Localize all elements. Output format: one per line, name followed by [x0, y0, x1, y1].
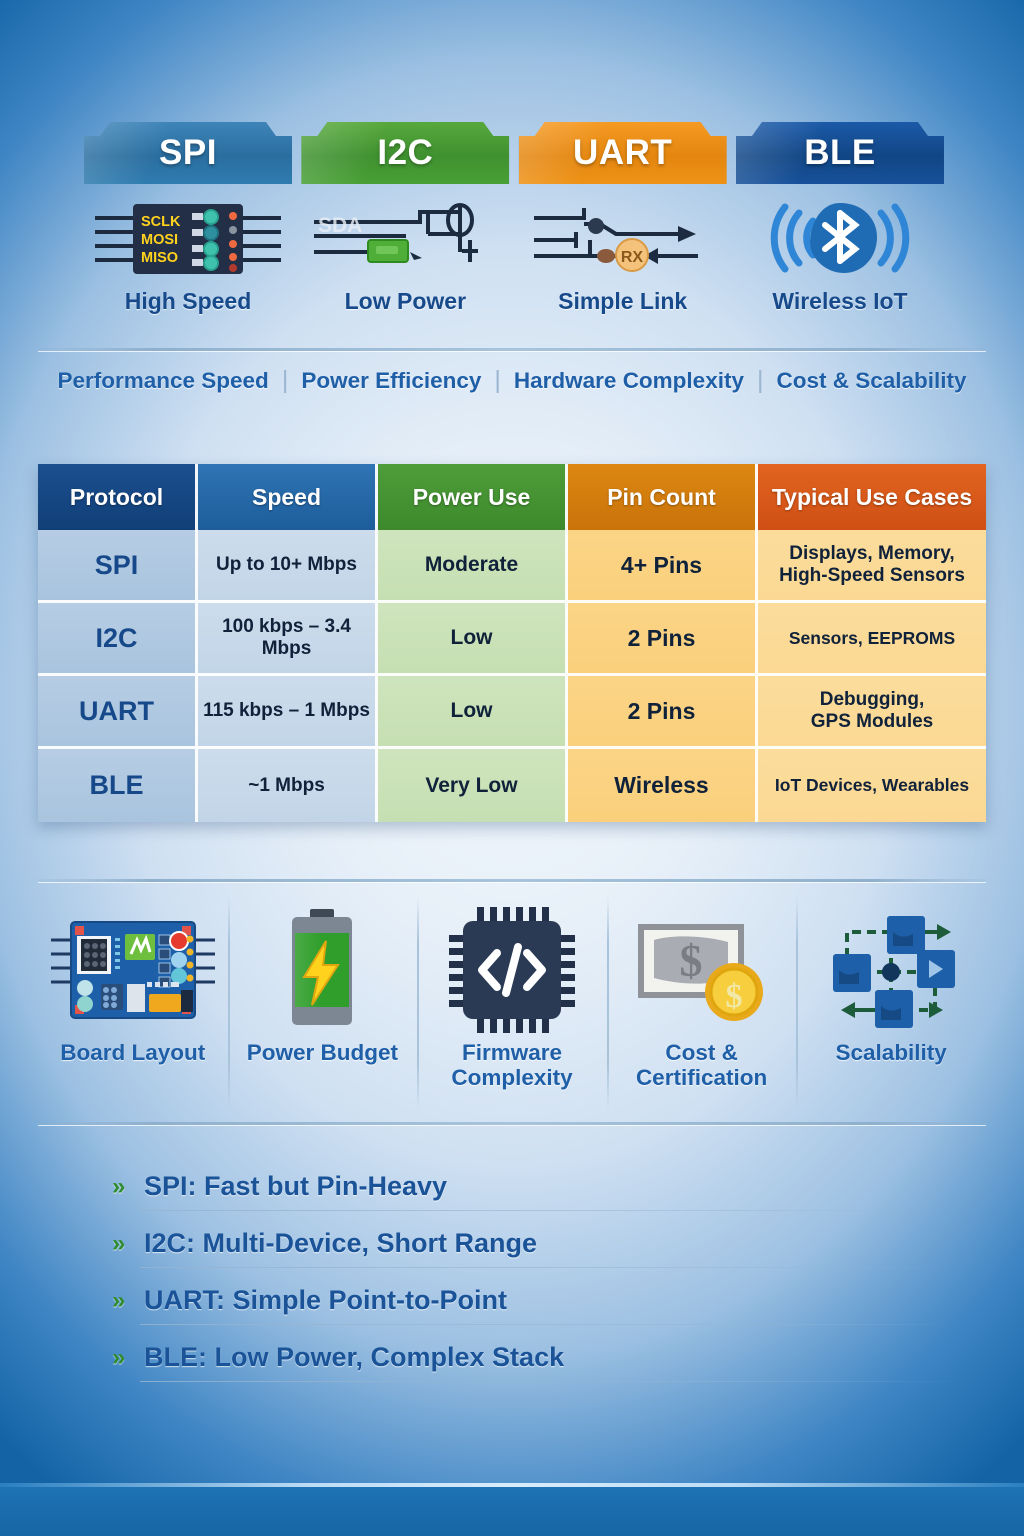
microchip-code-icon [449, 904, 575, 1036]
table-row: UART 115 kbps – 1 Mbps Low 2 Pins Debugg… [38, 676, 986, 749]
cell-use-cases: IoT Devices, Wearables [758, 749, 986, 822]
table-header-row: Protocol Speed Power Use Pin Count Typic… [38, 464, 986, 530]
consideration-label: Scalability [836, 1040, 947, 1065]
bluetooth-wireless-icon [736, 192, 944, 284]
consideration-power-budget[interactable]: Power Budget [228, 892, 418, 1114]
divider-middle [38, 879, 986, 882]
cell-speed: Up to 10+ Mbps [198, 530, 378, 603]
cell-pin-count: 2 Pins [568, 603, 758, 676]
spi-chip-icon: SCLK MOSI MISO [84, 192, 292, 284]
ribbon-uart: UART [519, 122, 727, 184]
category-strip: Performance Speed | Power Efficiency | H… [38, 366, 986, 395]
table-row: I2C 100 kbps – 3.4 Mbps Low 2 Pins Senso… [38, 603, 986, 676]
i2c-sda-label: SDA [318, 214, 362, 237]
badge-caption-ble: Wireless IoT [772, 288, 907, 315]
battery-icon [276, 904, 368, 1036]
cell-speed: 115 kbps – 1 Mbps [198, 676, 378, 749]
bottom-band [0, 1487, 1024, 1536]
uart-rx-label: RX [621, 249, 644, 266]
ribbon-ble: BLE [736, 122, 944, 184]
cell-pin-count: Wireless [568, 749, 758, 822]
takeaway-text: SPI: Fast but Pin-Heavy [144, 1171, 447, 1202]
infographic-page: SPI SCLK MOSI MISO [0, 0, 1024, 1536]
protocol-badge-spi[interactable]: SPI SCLK MOSI MISO [84, 122, 292, 337]
list-item[interactable]: » I2C: Multi-Device, Short Range [112, 1215, 942, 1272]
cell-protocol: UART [38, 676, 198, 749]
cell-use-cases: Displays, Memory, High-Speed Sensors [758, 530, 986, 603]
svg-text:$: $ [725, 978, 742, 1015]
cell-protocol: SPI [38, 530, 198, 603]
protocol-comparison-table: Protocol Speed Power Use Pin Count Typic… [38, 464, 986, 822]
spi-signal-sclk: SCLK [141, 214, 181, 230]
cell-speed: ~1 Mbps [198, 749, 378, 822]
cell-use-cases: Sensors, EEPROMS [758, 603, 986, 676]
consideration-cost-certification[interactable]: $ $ Cost & Certification [607, 892, 797, 1114]
uart-tx-rx-diagram-icon: RX [519, 192, 727, 284]
cell-power: Very Low [378, 749, 568, 822]
cell-power: Low [378, 676, 568, 749]
chevron-right-icon: » [112, 1287, 144, 1315]
list-item[interactable]: » SPI: Fast but Pin-Heavy [112, 1158, 942, 1215]
cell-speed: 100 kbps – 3.4 Mbps [198, 603, 378, 676]
spi-signal-mosi: MOSI [141, 232, 178, 248]
cell-power: Low [378, 603, 568, 676]
consideration-label: Board Layout [60, 1040, 205, 1065]
divider-bottom [38, 1122, 986, 1125]
consideration-scalability[interactable]: Scalability [796, 892, 986, 1114]
badge-caption-spi: High Speed [125, 288, 252, 315]
category-cost-scalability[interactable]: Cost & Scalability [763, 368, 979, 394]
protocol-badge-ble[interactable]: BLE [736, 122, 944, 337]
consideration-label: Firmware Complexity [451, 1040, 572, 1090]
cell-power: Moderate [378, 530, 568, 603]
table-row: BLE ~1 Mbps Very Low Wireless IoT Device… [38, 749, 986, 822]
i2c-bus-diagram-icon: SDA [301, 192, 509, 284]
table-row: SPI Up to 10+ Mbps Moderate 4+ Pins Disp… [38, 530, 986, 603]
ribbon-spi: SPI [84, 122, 292, 184]
ribbon-label-ble: BLE [804, 133, 876, 173]
cell-use-cases: Debugging, GPS Modules [758, 676, 986, 749]
cell-protocol: BLE [38, 749, 198, 822]
divider-top [38, 348, 986, 351]
column-header-use-cases: Typical Use Cases [758, 464, 986, 530]
consideration-label: Cost & Certification [607, 1040, 797, 1090]
ribbon-i2c: I2C [301, 122, 509, 184]
ribbon-label-uart: UART [573, 133, 672, 173]
list-item[interactable]: » BLE: Low Power, Complex Stack [112, 1329, 942, 1386]
cell-pin-count: 2 Pins [568, 676, 758, 749]
category-hardware-complexity[interactable]: Hardware Complexity [501, 368, 757, 394]
category-power-efficiency[interactable]: Power Efficiency [288, 368, 494, 394]
consideration-icon-strip: Board Layout Power Budget [38, 892, 986, 1114]
protocol-badge-row: SPI SCLK MOSI MISO [84, 122, 944, 337]
chevron-right-icon: » [112, 1173, 144, 1201]
consideration-label: Power Budget [247, 1040, 398, 1065]
protocol-badge-i2c[interactable]: I2C SDA [301, 122, 509, 337]
badge-caption-i2c: Low Power [345, 288, 466, 315]
takeaway-text: I2C: Multi-Device, Short Range [144, 1228, 537, 1259]
column-header-speed: Speed [198, 464, 378, 530]
network-nodes-icon [825, 904, 957, 1036]
column-header-power-use: Power Use [378, 464, 568, 530]
svg-text:$: $ [679, 935, 702, 986]
takeaway-text: BLE: Low Power, Complex Stack [144, 1342, 564, 1373]
takeaway-list: » SPI: Fast but Pin-Heavy » I2C: Multi-D… [112, 1158, 942, 1386]
ribbon-label-i2c: I2C [377, 133, 433, 173]
takeaway-text: UART: Simple Point-to-Point [144, 1285, 507, 1316]
consideration-firmware-complexity[interactable]: Firmware Complexity [417, 892, 607, 1114]
protocol-badge-uart[interactable]: UART RX [519, 122, 727, 337]
column-header-pin-count: Pin Count [568, 464, 758, 530]
chevron-right-icon: » [112, 1344, 144, 1372]
spi-signal-miso: MISO [141, 250, 178, 266]
ribbon-label-spi: SPI [159, 133, 217, 173]
chevron-right-icon: » [112, 1230, 144, 1258]
cell-protocol: I2C [38, 603, 198, 676]
category-performance-speed[interactable]: Performance Speed [44, 368, 281, 394]
badge-caption-uart: Simple Link [558, 288, 687, 315]
list-item[interactable]: » UART: Simple Point-to-Point [112, 1272, 942, 1329]
cell-pin-count: 4+ Pins [568, 530, 758, 603]
consideration-board-layout[interactable]: Board Layout [38, 892, 228, 1114]
column-header-protocol: Protocol [38, 464, 198, 530]
circuit-board-icon [49, 904, 217, 1036]
money-coin-icon: $ $ [634, 904, 770, 1036]
